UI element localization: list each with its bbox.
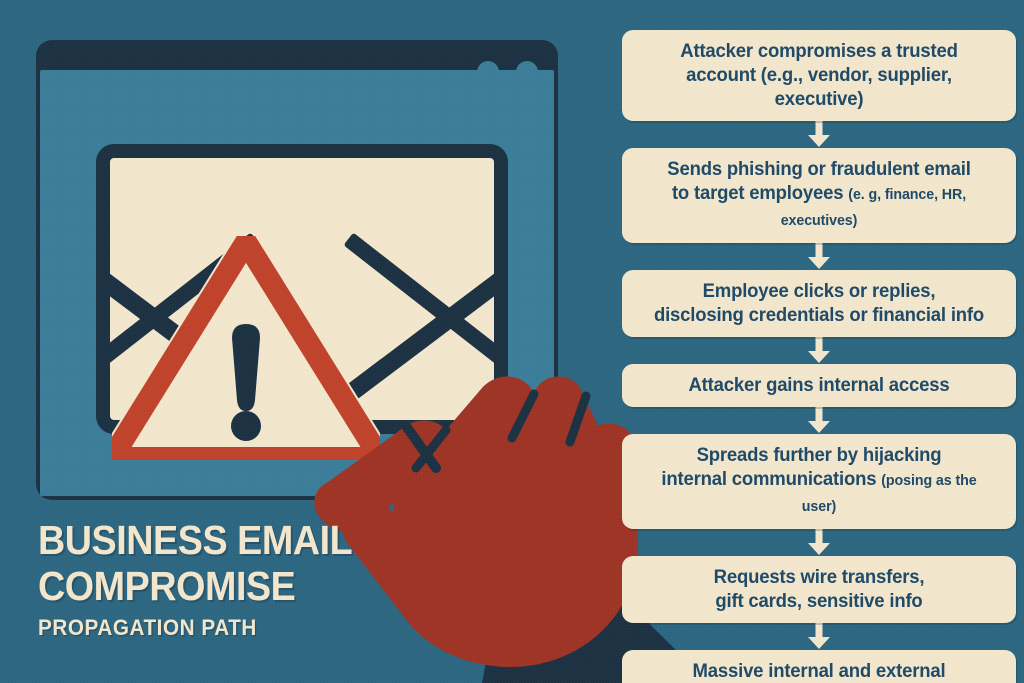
arrow-down-icon — [622, 121, 1016, 148]
arrow-down-icon — [622, 623, 1016, 650]
step-1-line-1: Attacker compromises a trusted — [643, 39, 995, 63]
step-box-2[interactable]: Sends phishing or fraudulent emailto tar… — [622, 148, 1016, 243]
step-3-line-2-main: disclosing credentials or financial info — [654, 304, 984, 326]
step-6-line-2-main: gift cards, sensitive info — [715, 590, 922, 612]
arrow-down-icon — [622, 529, 1016, 556]
step-4-line-1: Attacker gains internal access — [643, 373, 995, 397]
window-dot-2-icon — [516, 61, 538, 83]
step-3-line-1: Employee clicks or replies, — [643, 279, 995, 303]
flow-step-6: Requests wire transfers,gift cards, sens… — [622, 556, 1016, 623]
step-2-line-1: Sends phishing or fraudulent email — [643, 157, 995, 181]
window-dot-1-icon — [477, 61, 499, 83]
flow-step-5: Spreads further by hijackinginternal com… — [622, 434, 1016, 529]
step-1-line-2: account (e.g., vendor, supplier, executi… — [643, 63, 995, 111]
page-title-line-2: COMPROMISE — [38, 566, 352, 607]
arrow-down-icon — [622, 337, 1016, 364]
flow-step-1: Attacker compromises a trustedaccount (e… — [622, 30, 1016, 121]
step-6-line-2: gift cards, sensitive info — [643, 589, 995, 613]
step-2-line-2: to target employees (e. g, finance, HR, … — [643, 181, 995, 233]
step-box-1[interactable]: Attacker compromises a trustedaccount (e… — [622, 30, 1016, 121]
step-7-line-1: Massive internal and external — [643, 659, 995, 683]
step-3-line-2: disclosing credentials or financial info — [643, 303, 995, 327]
flow-step-7: Massive internal and externalcompromise … — [622, 650, 1016, 683]
step-box-5[interactable]: Spreads further by hijackinginternal com… — [622, 434, 1016, 529]
step-box-3[interactable]: Employee clicks or replies,disclosing cr… — [622, 270, 1016, 337]
flow-step-2: Sends phishing or fraudulent emailto tar… — [622, 148, 1016, 243]
step-5-line-2: internal communications (posing as the u… — [643, 467, 995, 519]
illustration-panel: BUSINESS EMAIL COMPROMISE PROPAGATION PA… — [0, 0, 614, 683]
step-5-line-2-main: internal communications — [661, 468, 876, 490]
step-box-7[interactable]: Massive internal and externalcompromise … — [622, 650, 1016, 683]
page-title-line-1: BUSINESS EMAIL — [38, 520, 352, 561]
step-2-line-2-main: to target employees — [672, 182, 843, 204]
step-5-line-1: Spreads further by hijacking — [643, 443, 995, 467]
step-box-6[interactable]: Requests wire transfers,gift cards, sens… — [622, 556, 1016, 623]
step-1-line-2-main: account (e.g., vendor, supplier, executi… — [686, 64, 952, 110]
step-box-4[interactable]: Attacker gains internal access — [622, 364, 1016, 407]
title-block: BUSINESS EMAIL COMPROMISE PROPAGATION PA… — [38, 520, 380, 640]
flow-step-3: Employee clicks or replies,disclosing cr… — [622, 270, 1016, 337]
infographic-poster: BUSINESS EMAIL COMPROMISE PROPAGATION PA… — [0, 0, 1024, 683]
propagation-flow: Attacker compromises a trustedaccount (e… — [622, 30, 1016, 670]
step-6-line-1: Requests wire transfers, — [643, 565, 995, 589]
arrow-down-icon — [622, 243, 1016, 270]
arrow-down-icon — [622, 407, 1016, 434]
page-subtitle: PROPAGATION PATH — [38, 616, 359, 640]
flow-step-4: Attacker gains internal access — [622, 364, 1016, 407]
